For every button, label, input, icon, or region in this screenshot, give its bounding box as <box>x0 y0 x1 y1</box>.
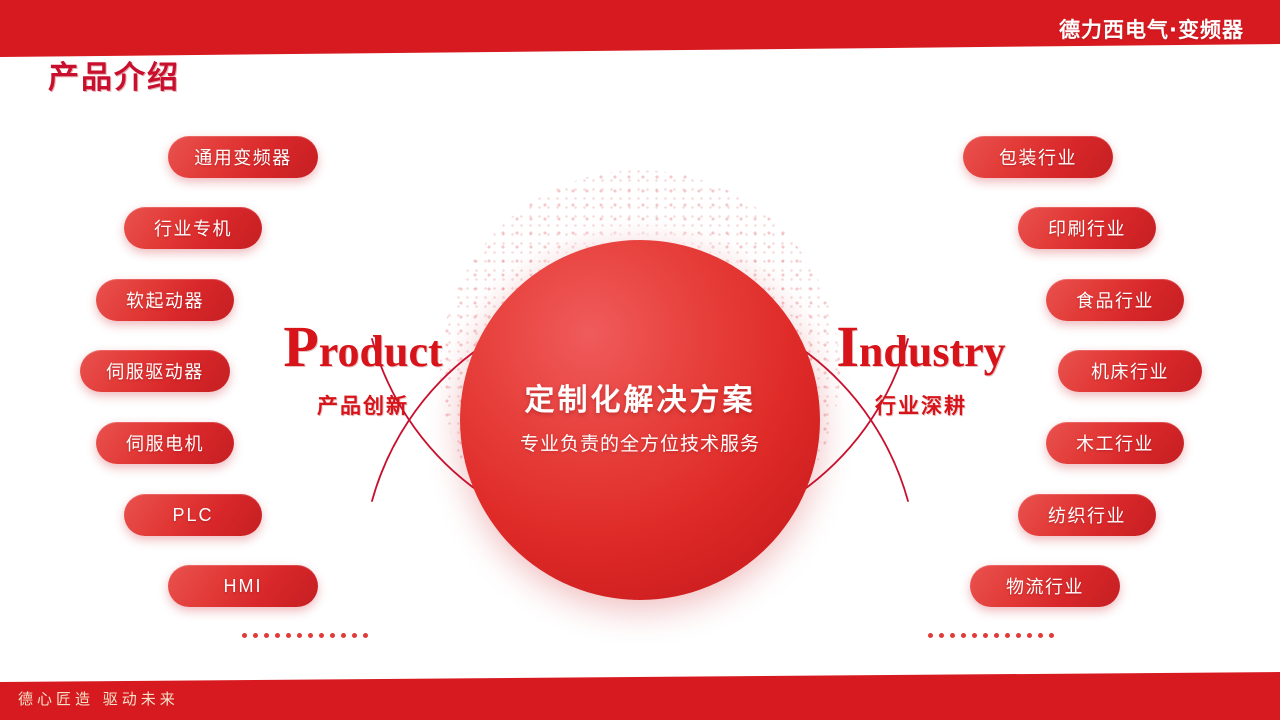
product-pill-7[interactable]: HMI <box>168 565 318 607</box>
product-pill-label: HMI <box>224 576 263 597</box>
decoration-dot <box>264 633 269 638</box>
decoration-dot <box>994 633 999 638</box>
decoration-dot <box>972 633 977 638</box>
decoration-dot <box>1027 633 1032 638</box>
industry-pill-6[interactable]: 纺织行业 <box>1018 494 1156 536</box>
section-heading-industry: Industry 行业深耕 <box>826 318 1016 420</box>
industry-pill-label: 印刷行业 <box>1048 215 1126 241</box>
section-heading-industry-cn: 行业深耕 <box>826 390 1016 420</box>
decoration-dot <box>939 633 944 638</box>
section-heading-industry-initial: I <box>836 314 859 379</box>
slide-root: 德力西电气·变频器 产品介绍 定制化解决方案 专业负责的全方位技术服务 Prod… <box>0 0 1280 720</box>
product-pill-label: PLC <box>172 505 213 526</box>
decoration-dot <box>286 633 291 638</box>
industry-pill-label: 纺织行业 <box>1048 502 1126 528</box>
decoration-dot <box>1049 633 1054 638</box>
product-pill-5[interactable]: 伺服电机 <box>96 422 234 464</box>
decoration-dot <box>961 633 966 638</box>
decoration-dot <box>928 633 933 638</box>
product-pill-6[interactable]: PLC <box>124 494 262 536</box>
product-pill-label: 通用变频器 <box>194 144 292 170</box>
decoration-dot <box>319 633 324 638</box>
footer-band-fill <box>0 672 1280 720</box>
section-heading-industry-rest: ndustry <box>859 327 1006 376</box>
decoration-dot <box>275 633 280 638</box>
decoration-dot <box>950 633 955 638</box>
decoration-dot <box>330 633 335 638</box>
dot-row-left <box>242 633 368 638</box>
section-heading-product-en: Product <box>268 318 458 376</box>
decoration-dot <box>352 633 357 638</box>
product-pill-label: 软起动器 <box>126 287 204 313</box>
industry-pill-label: 机床行业 <box>1091 358 1169 384</box>
section-heading-product: Product 产品创新 <box>268 318 458 420</box>
center-sphere: 定制化解决方案 专业负责的全方位技术服务 <box>460 240 820 600</box>
industry-pill-3[interactable]: 食品行业 <box>1046 279 1184 321</box>
section-heading-product-cn: 产品创新 <box>268 390 458 420</box>
industry-pill-label: 物流行业 <box>1006 573 1084 599</box>
industry-pill-label: 包装行业 <box>999 144 1077 170</box>
decoration-dot <box>1005 633 1010 638</box>
industry-pill-1[interactable]: 包装行业 <box>963 136 1113 178</box>
industry-pill-5[interactable]: 木工行业 <box>1046 422 1184 464</box>
decoration-dot <box>253 633 258 638</box>
decoration-dot <box>1038 633 1043 638</box>
section-heading-product-initial: P <box>283 314 318 379</box>
dot-row-right <box>928 633 1054 638</box>
decoration-dot <box>363 633 368 638</box>
footer-slogan: 德心匠造 驱动未来 <box>18 688 179 709</box>
industry-pill-label: 食品行业 <box>1076 287 1154 313</box>
brand-logo-text: 德力西电气·变频器 <box>1059 14 1244 44</box>
product-pill-label: 伺服电机 <box>126 430 204 456</box>
product-pill-2[interactable]: 行业专机 <box>124 207 262 249</box>
page-title: 产品介绍 <box>48 52 180 97</box>
industry-pill-2[interactable]: 印刷行业 <box>1018 207 1156 249</box>
section-heading-industry-en: Industry <box>826 318 1016 376</box>
decoration-dot <box>341 633 346 638</box>
center-subtitle: 专业负责的全方位技术服务 <box>520 429 760 456</box>
center-title: 定制化解决方案 <box>525 384 756 417</box>
decoration-dot <box>1016 633 1021 638</box>
product-pill-3[interactable]: 软起动器 <box>96 279 234 321</box>
section-heading-product-rest: roduct <box>319 327 443 376</box>
decoration-dot <box>242 633 247 638</box>
industry-pill-4[interactable]: 机床行业 <box>1058 350 1202 392</box>
decoration-dot <box>308 633 313 638</box>
product-pill-label: 行业专机 <box>154 215 232 241</box>
product-pill-label: 伺服驱动器 <box>106 358 204 384</box>
industry-pill-label: 木工行业 <box>1076 430 1154 456</box>
product-pill-4[interactable]: 伺服驱动器 <box>80 350 230 392</box>
footer-band: 德心匠造 驱动未来 <box>0 672 1280 720</box>
decoration-dot <box>297 633 302 638</box>
product-pill-1[interactable]: 通用变频器 <box>168 136 318 178</box>
industry-pill-7[interactable]: 物流行业 <box>970 565 1120 607</box>
decoration-dot <box>983 633 988 638</box>
